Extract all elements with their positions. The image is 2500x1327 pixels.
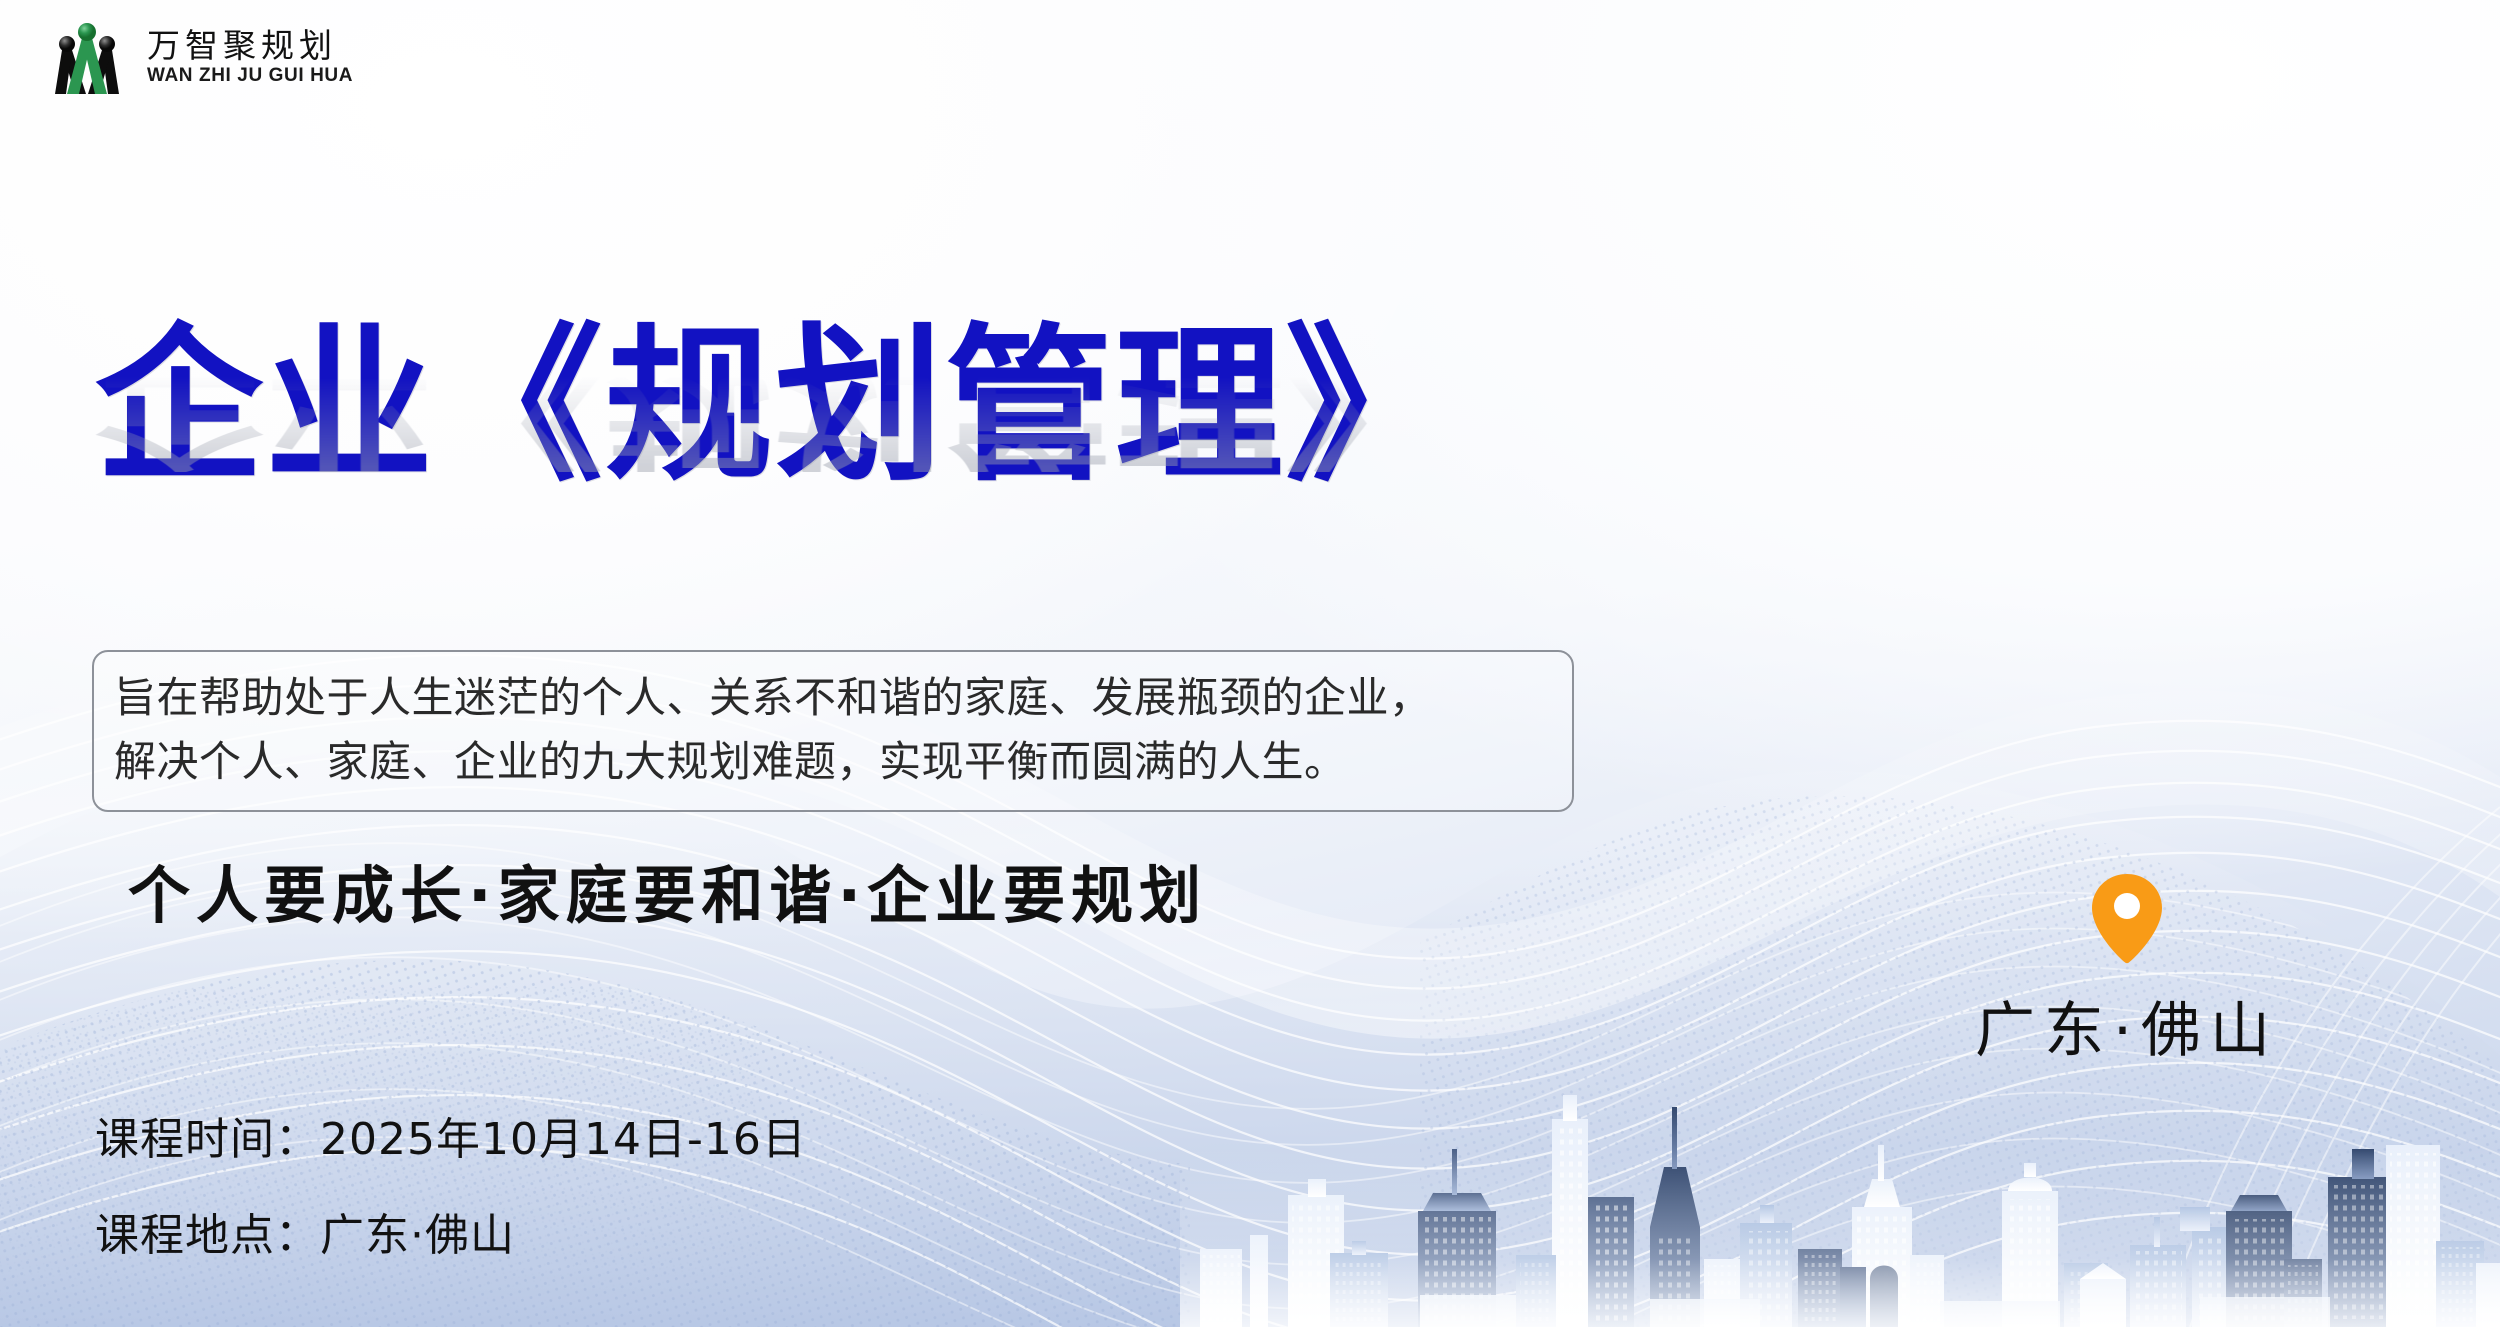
brand-text: 万智聚规划 WAN ZHI JU GUI HUA (147, 29, 353, 88)
brand-name-en: WAN ZHI JU GUI HUA (147, 65, 353, 87)
slogan-text: 个人要成长·家庭要和谐·企业要规划 (128, 845, 1207, 935)
description-box: 旨在帮助处于人生迷茫的个人、关系不和谐的家庭、发展瓶颈的企业， 解决个人、家庭、… (92, 650, 1574, 812)
three-people-m-logo-icon (45, 18, 129, 98)
logo-svg (45, 18, 129, 98)
brand-name-cn: 万智聚规划 (147, 29, 353, 64)
course-time: 课程时间：2025年10月14日-16日 (95, 1118, 807, 1162)
skyline-fade (1180, 1147, 2500, 1327)
location-label: 广东·佛山 (1952, 982, 2302, 1069)
poster-canvas: 万智聚规划 WAN ZHI JU GUI HUA 企业《规划管理》 企业《规划管… (0, 0, 2500, 1327)
main-title-block: 企业《规划管理》 企业《规划管理》 (95, 322, 1455, 640)
location-block: 广东·佛山 (1952, 872, 2302, 1069)
city-skyline (1180, 1027, 2500, 1327)
page-title-reflection: 企业《规划管理》 (95, 368, 1455, 472)
brand-logo: 万智聚规划 WAN ZHI JU GUI HUA (45, 18, 353, 98)
course-place: 课程地点：广东·佛山 (95, 1214, 807, 1258)
description-line-1: 旨在帮助处于人生迷茫的个人、关系不和谐的家庭、发展瓶颈的企业， (114, 666, 1552, 730)
description-line-2: 解决个人、家庭、企业的九大规划难题，实现平衡而圆满的人生。 (114, 730, 1552, 794)
course-info: 课程时间：2025年10月14日-16日 课程地点：广东·佛山 (95, 1118, 807, 1258)
map-pin-icon (2089, 872, 2165, 964)
